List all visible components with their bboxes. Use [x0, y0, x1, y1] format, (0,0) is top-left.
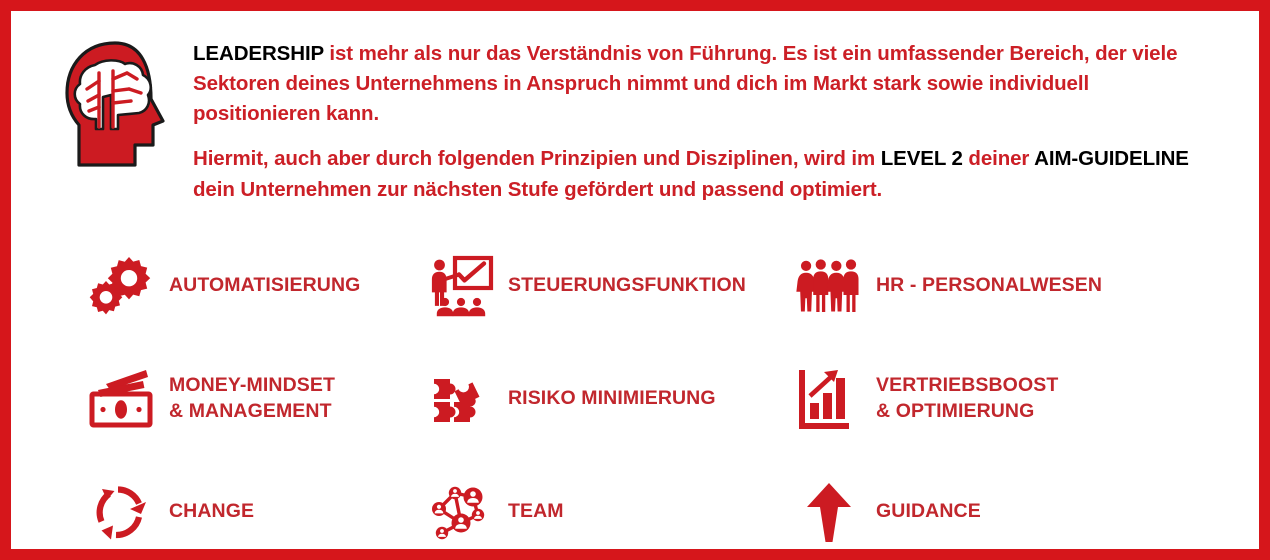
grid-item-label: HR - PERSONALWESEN — [862, 273, 1102, 299]
grid-item-vertriebsboost: VERTRIEBSBOOST & OPTIMIERUNG — [788, 368, 1208, 430]
head-brain-icon — [55, 37, 173, 172]
leadership-keyword: LEADERSHIP — [193, 42, 324, 65]
grid-item-label: MONEY-MINDSET & MANAGEMENT — [155, 373, 335, 424]
header-paragraph-2-part1: Hiermit, auch aber durch folgenden Prinz… — [193, 147, 881, 170]
grid-item-label: TEAM — [494, 499, 564, 525]
gears-icon — [89, 255, 155, 317]
header-paragraph-2: Hiermit, auch aber durch folgenden Prinz… — [193, 144, 1215, 204]
banknotes-icon — [89, 368, 155, 430]
network-team-icon — [428, 481, 494, 543]
header-text-block: LEADERSHIP ist mehr als nur das Verständ… — [173, 27, 1215, 205]
grid-item-label: GUIDANCE — [862, 499, 981, 525]
grid-item-label: CHANGE — [155, 499, 254, 525]
grid-item-money-mindset: MONEY-MINDSET & MANAGEMENT — [11, 368, 423, 430]
grid-item-label: RISIKO MINIMIERUNG — [494, 386, 716, 412]
up-arrow-icon — [796, 481, 862, 543]
aim-guideline-keyword: AIM-GUIDELINE — [1034, 147, 1189, 170]
grid-item-steuerungsfunktion: STEUERUNGSFUNKTION — [423, 255, 788, 317]
grid-item-hr-personalwesen: HR - PERSONALWESEN — [788, 255, 1208, 317]
slide-frame: LEADERSHIP ist mehr als nur das Verständ… — [0, 0, 1270, 560]
bar-chart-growth-icon — [796, 368, 862, 430]
grid-row: AUTOMATISIERUNG — [11, 229, 1259, 342]
grid-row: MONEY-MINDSET & MANAGEMENT RISIKO MINIMI… — [11, 342, 1259, 455]
grid-item-guidance: GUIDANCE — [788, 481, 1208, 543]
grid-item-label: STEUERUNGSFUNKTION — [494, 273, 746, 299]
people-group-icon — [796, 255, 862, 317]
header-block: LEADERSHIP ist mehr als nur das Verständ… — [55, 27, 1215, 205]
header-paragraph-1: LEADERSHIP ist mehr als nur das Verständ… — [193, 39, 1215, 129]
grid-item-label: AUTOMATISIERUNG — [155, 273, 360, 299]
circular-arrows-icon — [89, 481, 155, 543]
header-paragraph-2-part3: dein Unternehmen zur nächsten Stufe gefö… — [193, 178, 882, 201]
slide-inner: LEADERSHIP ist mehr als nur das Verständ… — [11, 11, 1259, 549]
header-paragraph-1-rest: ist mehr als nur das Verständnis von Füh… — [193, 42, 1177, 125]
grid-item-automatisierung: AUTOMATISIERUNG — [11, 255, 423, 317]
grid-item-change: CHANGE — [11, 481, 423, 543]
grid-item-team: TEAM — [423, 481, 788, 543]
capability-grid: AUTOMATISIERUNG — [11, 229, 1259, 560]
grid-item-risiko-minimierung: RISIKO MINIMIERUNG — [423, 368, 788, 430]
puzzle-pieces-icon — [428, 368, 494, 430]
grid-row: CHANGE — [11, 455, 1259, 560]
header-paragraph-2-part2: deiner — [963, 147, 1034, 170]
level-2-keyword: LEVEL 2 — [881, 147, 963, 170]
grid-item-label: VERTRIEBSBOOST & OPTIMIERUNG — [862, 373, 1058, 424]
presentation-trainer-icon — [428, 255, 494, 317]
